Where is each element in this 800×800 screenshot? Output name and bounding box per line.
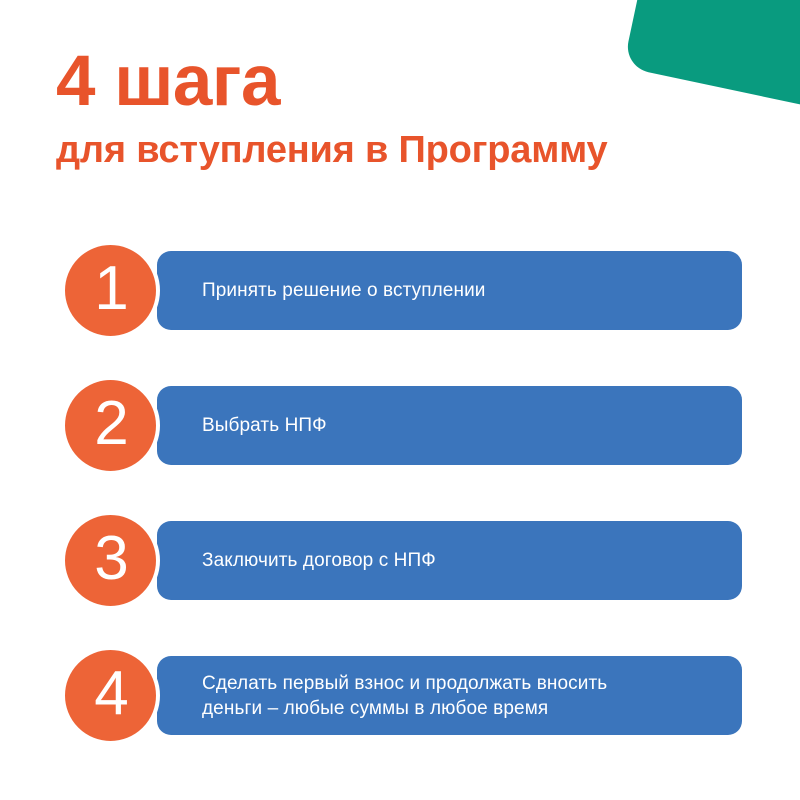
step-bar: Сделать первый взнос и продолжать вносит…: [157, 656, 742, 735]
step-text-line-1: Принять решение о вступлении: [202, 280, 486, 301]
step-row: Сделать первый взнос и продолжать вносит…: [0, 646, 800, 745]
step-number-badge: 4: [61, 646, 160, 745]
steps-list: Принять решение о вступлении 1 Выбрать Н…: [0, 241, 800, 745]
step-row: Принять решение о вступлении 1: [0, 241, 800, 340]
step-text: Сделать первый взнос и продолжать вносит…: [157, 671, 627, 721]
step-text: Выбрать НПФ: [157, 413, 347, 438]
step-text: Принять решение о вступлении: [157, 278, 506, 303]
step-number-badge: 2: [61, 376, 160, 475]
step-bar: Заключить договор с НПФ: [157, 521, 742, 600]
headline-block: 4 шага для вступления в Программу: [56, 44, 756, 172]
step-number-label: 2: [94, 393, 128, 455]
step-row: Заключить договор с НПФ 3: [0, 511, 800, 610]
step-bar: Принять решение о вступлении: [157, 251, 742, 330]
page-subtitle: для вступления в Программу: [56, 128, 756, 172]
step-number-badge: 1: [61, 241, 160, 340]
step-text-line-2: деньги – любые суммы в любое время: [202, 696, 607, 721]
step-row: Выбрать НПФ 2: [0, 376, 800, 475]
step-number-label: 4: [94, 663, 128, 725]
page-title: 4 шага: [56, 44, 756, 120]
step-text-line-1: Заключить договор с НПФ: [202, 550, 436, 571]
step-number-label: 3: [94, 528, 128, 590]
step-number-badge: 3: [61, 511, 160, 610]
step-text: Заключить договор с НПФ: [157, 548, 456, 573]
infographic-canvas: 4 шага для вступления в Программу Принят…: [0, 0, 800, 800]
step-text-line-1: Выбрать НПФ: [202, 415, 327, 436]
step-number-label: 1: [94, 258, 128, 320]
step-bar: Выбрать НПФ: [157, 386, 742, 465]
step-text-line-1: Сделать первый взнос и продолжать вносит…: [202, 673, 607, 694]
